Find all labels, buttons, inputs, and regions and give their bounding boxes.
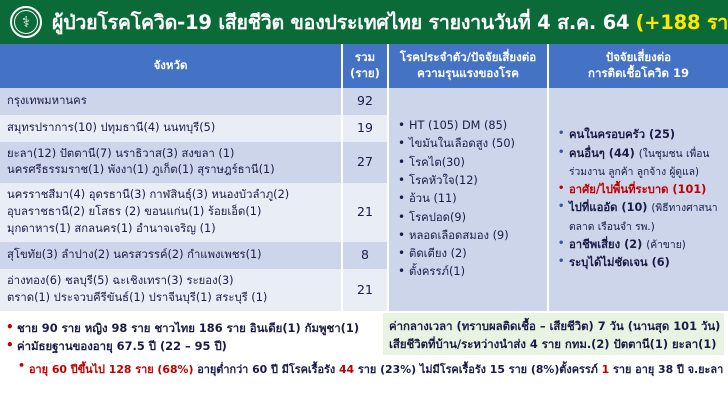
column-header-risk: ปัจจัยเสี่ยงต่อ การติดเชื้อโควิด 19 bbox=[548, 44, 728, 88]
column-header-conditions: โรคประจำตัว/ปัจจัยเสี่ยงต่อ ความรุนแรงขอ… bbox=[388, 44, 548, 88]
infection-risk-factors-list: คนในครอบครัว (25)คนอื่นๆ (44) (ในชุมชน เ… bbox=[556, 126, 721, 272]
risk-factor-item: ไปที่แออัด (10) (พิธีทางศาสนา ตลาด เรือน… bbox=[556, 199, 721, 236]
risk-factor-label: คนในครอบครัว (25) bbox=[569, 128, 675, 141]
province-cell: นครราชสีมา(4) อุดรธานี(3) กาฬสินธุ์(3) ห… bbox=[0, 183, 342, 242]
deaths-at-home-or-transit: เสียชีวิตที่บ้าน/ระหว่างนำส่ง 4 ราย กทม.… bbox=[383, 335, 724, 353]
caduceus-icon: ⚕ bbox=[14, 10, 38, 34]
province-line: ยะลา(12) ปัตตานี(7) นราธิวาส(3) สงขลา (1… bbox=[7, 146, 334, 163]
risk-factor-detail: (ค้าขาย) bbox=[646, 239, 686, 251]
underlying-conditions-list: HT (105) DM (85)ไขมันในเลือดสูง (50)โรคไ… bbox=[396, 117, 540, 282]
age-60-plus: อายุ 60 ปีขึ้นไป 128 ราย (68%) bbox=[29, 363, 193, 376]
total-cell: 21 bbox=[342, 183, 388, 242]
infection-risk-factors-cell: คนในครอบครัว (25)คนอื่นๆ (44) (ในชุมชน เ… bbox=[548, 88, 728, 311]
column-header-conditions-line1: โรคประจำตัว/ปัจจัยเสี่ยงต่อ bbox=[393, 50, 543, 66]
risk-factor-item: อาศัย/ไปพื้นที่ระบาด (101) bbox=[556, 181, 721, 199]
condition-item: หลอดเลือดสมอง (9) bbox=[396, 227, 540, 245]
total-cell: 27 bbox=[342, 142, 388, 184]
province-line: สุโขทัย(3) ลำปาง(2) นครสวรรค์(2) กำแพงเพ… bbox=[7, 247, 334, 264]
page-title-text: ผู้ป่วยโรคโควิด-19 เสียชีวิต ของประเทศไท… bbox=[52, 7, 629, 38]
column-header-risk-line1: ปัจจัยเสี่ยงต่อ bbox=[553, 50, 724, 66]
province-line: ตราด(1) ประจวบคีรีขันธ์(1) ปราจีนบุรี(1)… bbox=[7, 290, 334, 307]
median-time-to-death: ค่ากลางเวลา (ทราบผลติดเชื้อ – เสียชีวิต)… bbox=[383, 313, 724, 335]
province-line: กรุงเทพมหานคร bbox=[7, 93, 334, 110]
column-header-province: จังหวัด bbox=[0, 44, 342, 88]
table-row: กรุงเทพมหานคร92HT (105) DM (85)ไขมันในเล… bbox=[0, 88, 728, 115]
risk-factor-label: อาศัย/ไปพื้นที่ระบาด (101) bbox=[569, 183, 706, 196]
condition-item: ไขมันในเลือดสูง (50) bbox=[396, 135, 540, 153]
sex-nationality-line: ชาย 90 ราย หญิง 98 ราย ชาวไทย 186 ราย อิ… bbox=[6, 319, 396, 337]
no-chronic-disease-label: ราย (23%) ไม่มีโรคเรื้อรัง 15 ราย (8%)ตั… bbox=[354, 363, 602, 376]
underlying-conditions-cell: HT (105) DM (85)ไขมันในเลือดสูง (50)โรคไ… bbox=[388, 88, 548, 311]
table-body: กรุงเทพมหานคร92HT (105) DM (85)ไขมันในเล… bbox=[0, 88, 728, 311]
province-line: นครราชสีมา(4) อุดรธานี(3) กาฬสินธุ์(3) ห… bbox=[7, 187, 334, 204]
summary-footer: ค่ากลางเวลา (ทราบผลติดเชื้อ – เสียชีวิต)… bbox=[0, 311, 728, 404]
risk-factor-label: ไปที่แออัด (10) bbox=[569, 201, 651, 214]
condition-item: โรคไต(30) bbox=[396, 154, 540, 172]
timing-summary-panel: ค่ากลางเวลา (ทราบผลติดเชื้อ – เสียชีวิต)… bbox=[383, 313, 724, 355]
ministry-of-public-health-emblem-icon: ⚕ bbox=[10, 6, 42, 38]
risk-factor-item: ระบุได้ไม่ชัดเจน (6) bbox=[556, 254, 721, 272]
risk-factor-item: อาชีพเสี่ยง (2) (ค้าขาย) bbox=[556, 236, 721, 254]
column-header-total: รวม (ราย) bbox=[342, 44, 388, 88]
condition-item: อ้วน (11) bbox=[396, 190, 540, 208]
condition-item: ตั้งครรภ์(1) bbox=[396, 263, 540, 281]
condition-item: HT (105) DM (85) bbox=[396, 117, 540, 135]
total-cell: 21 bbox=[342, 269, 388, 311]
pregnant-detail: ราย อายุ 38 ปี จ.ยะลา (0.5%) bbox=[609, 363, 728, 376]
age-under-60-label: อายุต่ำกว่า 60 ปี มีโรคเรื้อรัง bbox=[193, 363, 339, 376]
median-age-line: ค่ามัธยฐานของอายุ 67.5 ปี (22 – 95 ปี) bbox=[6, 337, 396, 355]
province-line: มุกดาหาร(1) สกลนคร(1) อำนาจเจริญ (1) bbox=[7, 221, 334, 238]
age-breakdown-line: อายุ 60 ปีขึ้นไป 128 ราย (68%) อายุต่ำกว… bbox=[18, 360, 728, 378]
total-cell: 19 bbox=[342, 115, 388, 142]
logo-container: ⚕ bbox=[0, 0, 52, 44]
column-header-conditions-line2: ความรุนแรงของโรค bbox=[393, 66, 543, 82]
province-cell: สุโขทัย(3) ลำปาง(2) นครสวรรค์(2) กำแพงเพ… bbox=[0, 242, 342, 269]
table-header-row: จังหวัด รวม (ราย) โรคประจำตัว/ปัจจัยเสี่… bbox=[0, 44, 728, 88]
chronic-disease-count: 44 bbox=[339, 363, 354, 376]
risk-factor-item: คนในครอบครัว (25) bbox=[556, 126, 721, 144]
province-line: อุบลราชธานี(2) ยโสธร (2) ขอนแก่น(1) ร้อย… bbox=[7, 204, 334, 221]
condition-item: ติดเตียง (2) bbox=[396, 245, 540, 263]
new-cases-badge: (+188 ราย) bbox=[635, 7, 728, 38]
province-cell: ยะลา(12) ปัตตานี(7) นราธิวาส(3) สงขลา (1… bbox=[0, 142, 342, 184]
condition-item: โรคปอด(9) bbox=[396, 209, 540, 227]
column-header-risk-line2: การติดเชื้อโควิด 19 bbox=[553, 66, 724, 82]
province-line: สมุทรปราการ(10) ปทุมธานี(4) นนทบุรี(5) bbox=[7, 120, 334, 137]
province-line: อ่างทอง(6) ชลบุรี(5) ฉะเชิงเทรา(3) ระยอง… bbox=[7, 273, 334, 290]
page-header: ⚕ ผู้ป่วยโรคโควิด-19 เสียชีวิต ของประเทศ… bbox=[0, 0, 728, 44]
deaths-by-province-table: จังหวัด รวม (ราย) โรคประจำตัว/ปัจจัยเสี่… bbox=[0, 44, 728, 311]
page-title: ผู้ป่วยโรคโควิด-19 เสียชีวิต ของประเทศไท… bbox=[52, 7, 728, 38]
province-cell: กรุงเทพมหานคร bbox=[0, 88, 342, 115]
province-cell: สมุทรปราการ(10) ปทุมธานี(4) นนทบุรี(5) bbox=[0, 115, 342, 142]
risk-factor-label: ระบุได้ไม่ชัดเจน (6) bbox=[569, 256, 670, 269]
total-cell: 92 bbox=[342, 88, 388, 115]
province-line: นครศรีธรรมราช(1) พังงา(1) ภูเก็ต(1) สุรา… bbox=[7, 162, 334, 179]
total-cell: 8 bbox=[342, 242, 388, 269]
province-cell: อ่างทอง(6) ชลบุรี(5) ฉะเชิงเทรา(3) ระยอง… bbox=[0, 269, 342, 311]
demographics-summary: ชาย 90 ราย หญิง 98 ราย ชาวไทย 186 ราย อิ… bbox=[6, 319, 396, 356]
risk-factor-item: คนอื่นๆ (44) (ในชุมชน เพื่อนร่วมงาน ลูกค… bbox=[556, 145, 721, 182]
condition-item: โรคหัวใจ(12) bbox=[396, 172, 540, 190]
risk-factor-label: อาชีพเสี่ยง (2) bbox=[569, 238, 646, 251]
risk-factor-label: คนอื่นๆ (44) bbox=[569, 147, 639, 160]
